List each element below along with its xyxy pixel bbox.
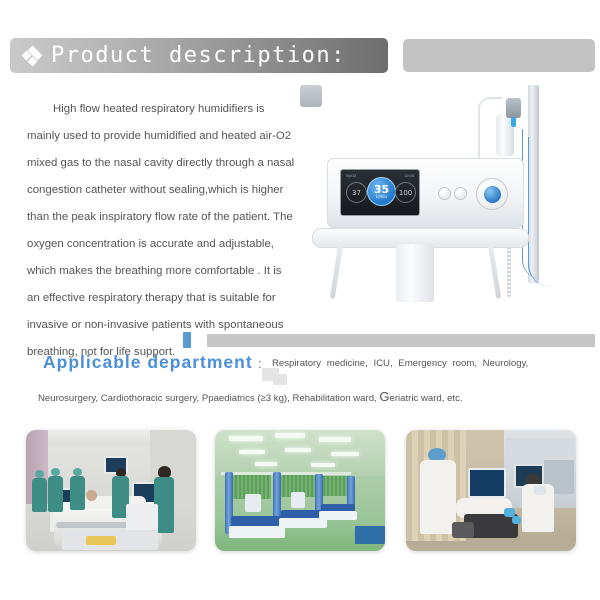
header-accent-bar [403,39,595,72]
photo-icu-training-room [26,430,196,551]
stand-column [396,244,434,302]
gauge-temperature: 37 [346,182,367,203]
pole-clamp [300,85,322,107]
department-line-2-end: eriatric ward, etc. [390,393,463,404]
product-description-paragraph: High flow heated respiratory humidifiers… [27,96,295,366]
stand-leg [488,244,502,299]
department-line-2-capital: G [379,389,389,404]
department-list-line-1: Respiratory medicine, ICU, Emergency roo… [272,358,592,369]
department-list-line-2: Neurosurgery, Cardiothoracic surgery, Pp… [38,389,588,404]
humidifier-main-unit: SpO2 12:00 37 35 L/min 100 [327,158,524,228]
divider-gray-bar [207,334,595,347]
page-title: Product description: [51,43,346,68]
photo-hospital-ward [215,430,385,551]
watermark-block [273,374,287,385]
screen-status-left: SpO2 [346,173,356,178]
power-button-icon [438,187,451,200]
applicable-department-heading: Applicable department [43,352,253,373]
tube-connector [506,98,521,118]
gauge-flow-unit: L/min [376,195,387,199]
device-display-screen: SpO2 12:00 37 35 L/min 100 [340,169,420,216]
product-device-image: SpO2 12:00 37 35 L/min 100 [300,85,590,330]
mode-button-icon [454,187,467,200]
stand-leg [330,244,344,299]
control-knob-center [483,185,502,204]
tube-tip [511,117,516,127]
photo-clinical-team [406,430,576,551]
patient-cable [528,137,551,287]
department-line-2-start: Neurosurgery, Cardiothoracic surgery, Pp… [38,393,379,404]
divider-blue-tab [183,332,191,348]
gauge-flow-rate: 35 L/min [367,177,396,206]
gauge-oxygen: 100 [395,182,416,203]
diamond-cluster-icon [23,47,41,65]
section-header-bar: Product description: [10,38,388,73]
screen-status-right: 12:00 [404,173,414,178]
control-knob [476,178,508,210]
